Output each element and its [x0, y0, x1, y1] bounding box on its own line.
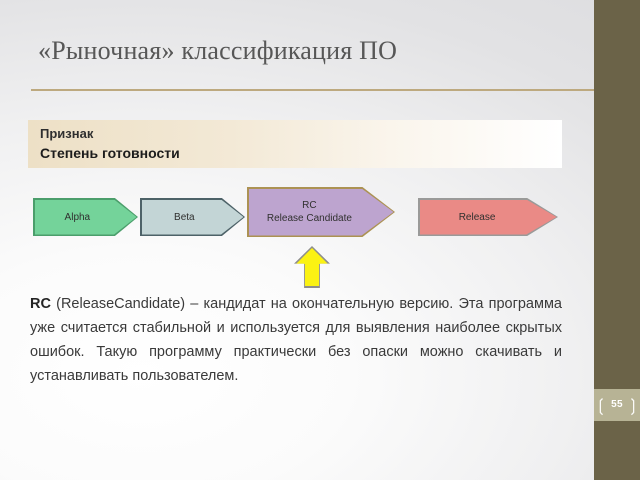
title-divider: [31, 89, 594, 91]
stage-label-release-candidate: RC Release Candidate: [267, 199, 375, 225]
bracket-left-icon: ❲: [594, 397, 608, 414]
stage-chevron-alpha-fill: Alpha: [35, 200, 137, 235]
stage-chevron-beta-fill: Beta: [142, 200, 244, 235]
stage-chevron-release-fill: Release: [420, 200, 557, 235]
body-paragraph: RC (ReleaseCandidate) – кандидат на окон…: [30, 292, 562, 388]
attribute-value: Степень готовности: [40, 143, 562, 163]
bracket-right-icon: ❳: [626, 397, 640, 414]
up-arrow-icon-fill: [296, 248, 328, 286]
stage-chevron-beta[interactable]: Beta: [140, 198, 245, 236]
stage-label-beta: Beta: [174, 211, 211, 224]
stage-label-alpha: Alpha: [65, 211, 107, 224]
up-arrow-icon: [294, 246, 330, 288]
body-paragraph-text: (ReleaseCandidate) – кандидат на окончат…: [30, 296, 562, 384]
page-title: «Рыночная» классификация ПО: [38, 36, 558, 66]
stage-chevron-release-candidate-fill: RC Release Candidate: [249, 189, 394, 236]
page-number-badge: ❲ 55 ❳: [594, 389, 640, 421]
stage-chevron-release[interactable]: Release: [418, 198, 558, 236]
body-lead-term: RC: [30, 296, 51, 312]
slide: «Рыночная» классификация ПО Признак Степ…: [0, 0, 640, 480]
stage-chevron-release-candidate[interactable]: RC Release Candidate: [247, 187, 395, 237]
stage-chevron-alpha[interactable]: Alpha: [33, 198, 138, 236]
stage-label-release: Release: [459, 211, 518, 224]
body-text: RC (ReleaseCandidate) – кандидат на окон…: [30, 292, 562, 388]
attribute-label: Признак: [40, 125, 562, 143]
page-number: 55: [611, 400, 623, 410]
attribute-banner: Признак Степень готовности: [28, 120, 562, 168]
